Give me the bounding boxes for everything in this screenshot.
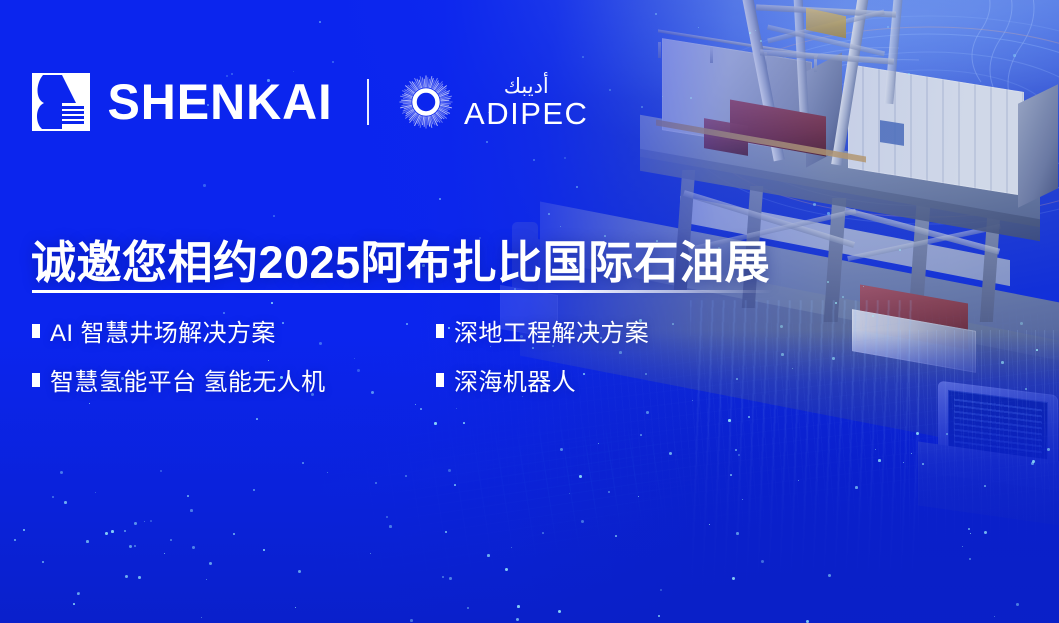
headline: 诚邀您相约2025阿布扎比国际石油展 xyxy=(31,226,770,291)
bullet-square-icon xyxy=(436,324,444,338)
logo-divider xyxy=(367,79,369,125)
bullet-square-icon xyxy=(32,324,40,338)
bullet-square-icon xyxy=(32,373,40,387)
logo-row: SHENKAI أديبك ADIPEC xyxy=(32,66,588,138)
adipec-arabic-text: أديبك xyxy=(464,76,588,97)
bullet-label: 智慧氢能平台 氢能无人机 xyxy=(50,362,325,397)
bullet-row: 智慧氢能平台 氢能无人机 深海机器人 xyxy=(32,362,732,397)
promotional-banner: SHENKAI أديبك ADIPEC 诚邀您相约2025阿布扎比国际石油展 xyxy=(0,0,1059,623)
bullet-list: AI 智慧井场解决方案 深地工程解决方案 智慧氢能平台 氢能无人机 深海机器人 xyxy=(32,313,732,411)
adipec-burst-icon xyxy=(398,74,454,130)
bullet-square-icon xyxy=(436,373,444,387)
bullet-item: AI 智慧井场解决方案 xyxy=(32,313,436,348)
shenkai-wordmark: SHENKAI xyxy=(107,77,332,127)
adipec-latin-text: ADIPEC xyxy=(464,98,588,129)
adipec-logo: أديبك ADIPEC xyxy=(398,74,588,130)
bullet-item: 智慧氢能平台 氢能无人机 xyxy=(32,362,436,397)
bullet-item: 深地工程解决方案 xyxy=(436,313,649,348)
headline-divider-rule xyxy=(32,290,772,293)
bullet-label: 深海机器人 xyxy=(454,362,576,397)
bullet-row: AI 智慧井场解决方案 深地工程解决方案 xyxy=(32,313,732,348)
bullet-label: 深地工程解决方案 xyxy=(454,313,649,348)
bullet-label: AI 智慧井场解决方案 xyxy=(50,313,276,348)
bullet-item: 深海机器人 xyxy=(436,362,576,397)
shenkai-logo-icon xyxy=(32,73,90,131)
